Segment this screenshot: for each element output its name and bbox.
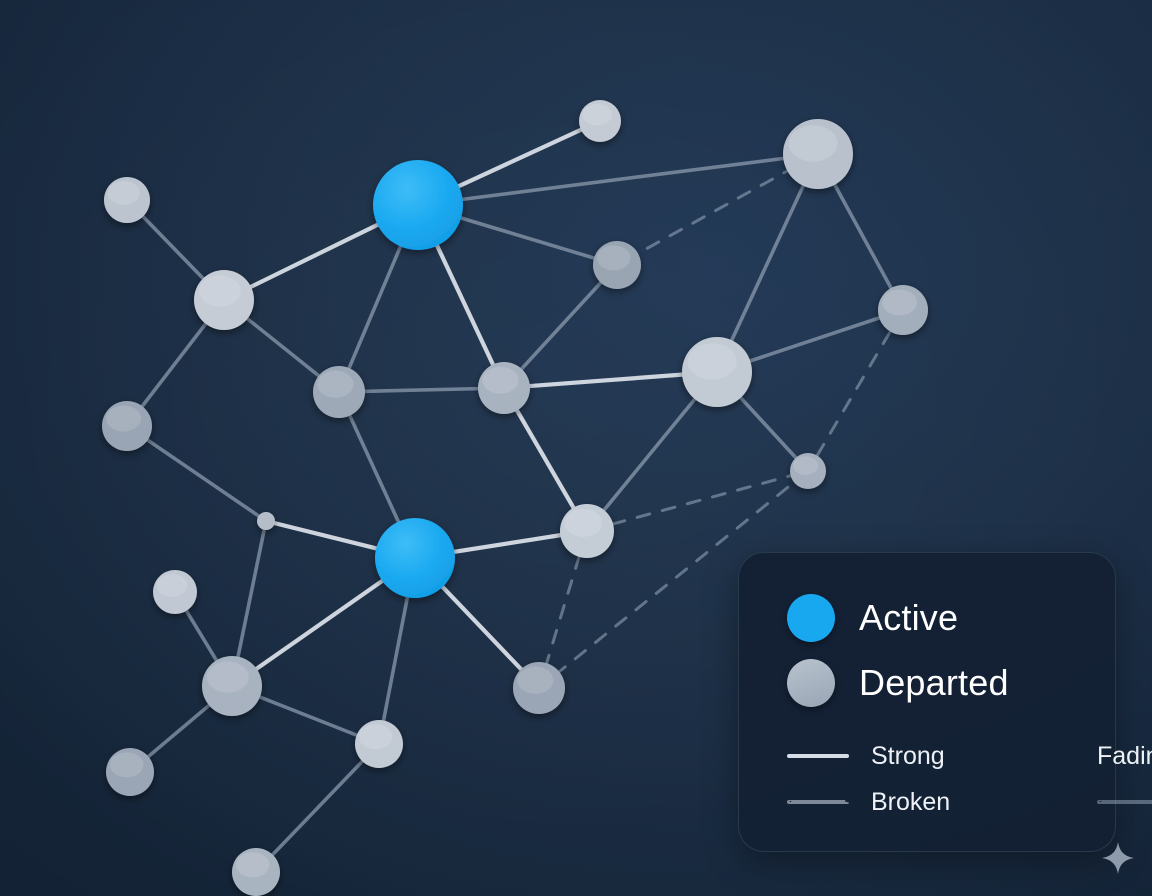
legend-label-fading: Fading <box>1097 744 1152 769</box>
node-highlight <box>793 456 818 475</box>
node-highlight <box>106 406 141 432</box>
legend-label-broken: Broken <box>871 790 1003 815</box>
network-graph-canvas: Active Departed Strong Fading Broken <box>0 0 1152 896</box>
graph-node-departed[interactable] <box>257 512 275 530</box>
node-highlight <box>317 371 353 398</box>
node-highlight <box>688 343 737 379</box>
node-highlight <box>236 852 270 877</box>
dashed-line-icon-broken <box>787 800 849 804</box>
node-highlight <box>564 509 602 537</box>
legend-label-active: Active <box>859 600 958 636</box>
graph-node-active[interactable] <box>375 518 455 598</box>
node-highlight <box>157 574 188 597</box>
node-highlight <box>199 275 241 306</box>
node-highlight <box>582 104 611 126</box>
graph-edge-broken <box>587 471 808 531</box>
graph-edge-broken <box>808 310 903 471</box>
graph-edge-fading <box>256 744 379 872</box>
graph-node-active[interactable] <box>373 160 463 250</box>
legend-line-styles: Strong Fading Broken <box>787 733 1085 825</box>
legend-panel[interactable]: Active Departed Strong Fading Broken <box>738 552 1116 852</box>
node-highlight <box>597 245 631 270</box>
graph-edge-fading <box>717 154 818 372</box>
solid-line-icon-strong <box>787 754 849 758</box>
graph-edge-fading <box>127 426 266 521</box>
node-highlight <box>517 667 553 694</box>
node-highlight <box>207 661 249 692</box>
dashed-line-icon-fading <box>1097 800 1152 804</box>
node-highlight <box>359 724 393 749</box>
node-highlight <box>482 367 518 394</box>
sparkle-icon <box>1101 841 1135 875</box>
legend-row-active[interactable]: Active <box>787 585 1085 650</box>
node-highlight <box>108 181 140 205</box>
legend-label-departed: Departed <box>859 665 1009 701</box>
circle-node-icon-departed <box>787 659 835 707</box>
legend-label-strong: Strong <box>871 744 1003 769</box>
node-highlight <box>110 752 144 777</box>
legend-row-departed[interactable]: Departed <box>787 650 1085 715</box>
node-highlight <box>882 290 917 316</box>
circle-node-icon-active <box>787 594 835 642</box>
node-highlight <box>789 125 838 161</box>
